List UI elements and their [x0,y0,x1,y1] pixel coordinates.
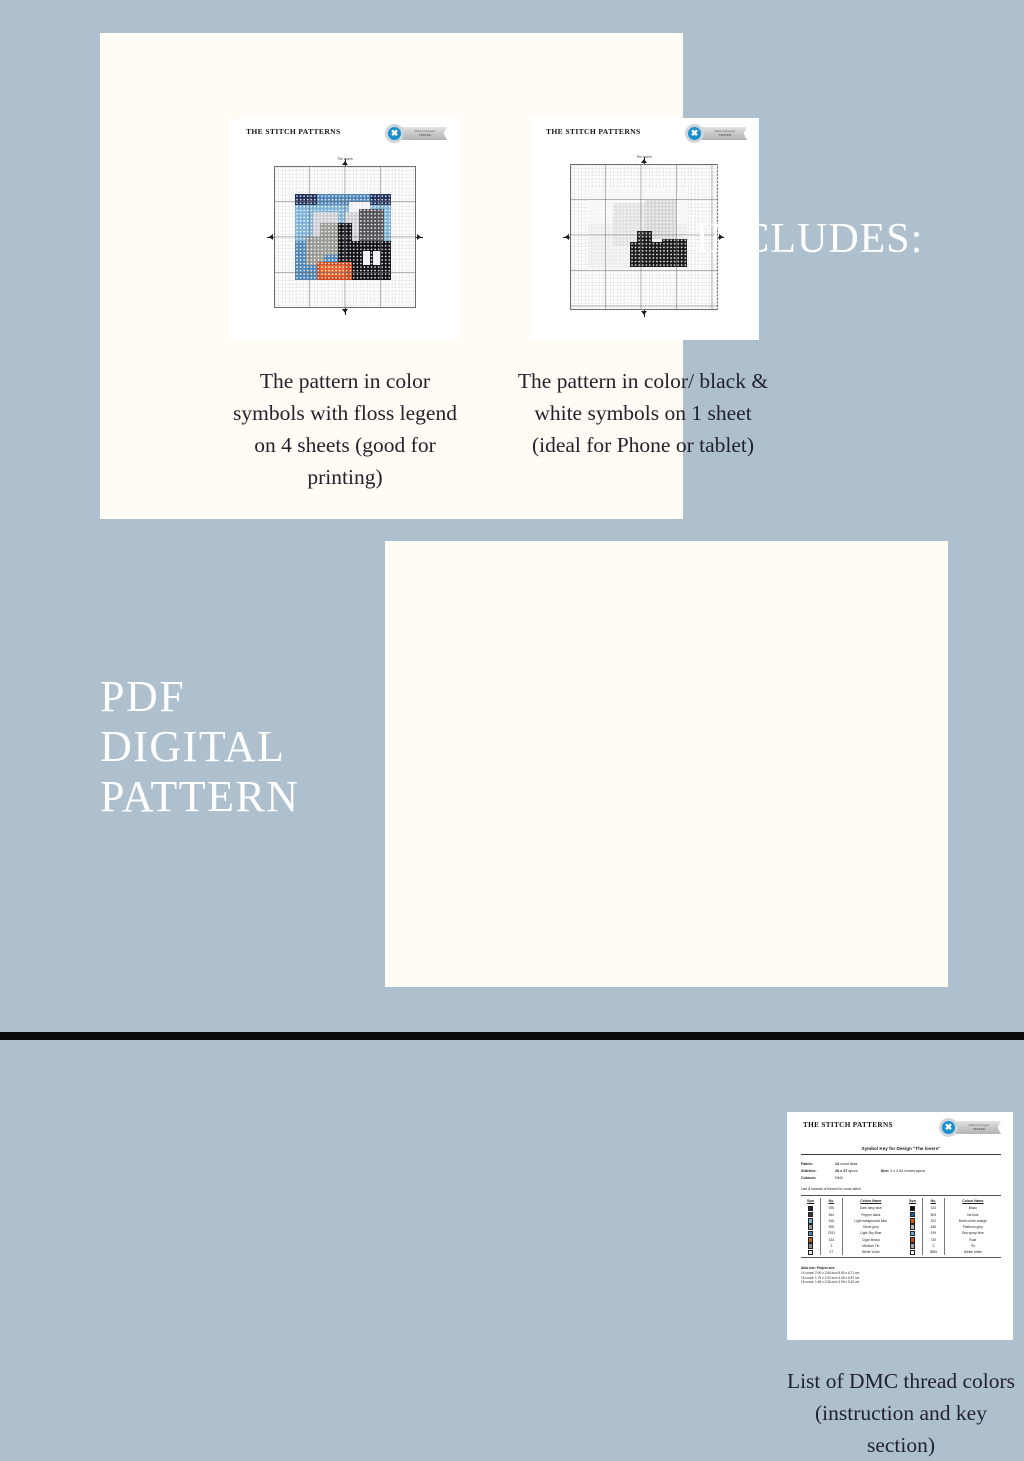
thread-symbol-icon [808,1212,814,1218]
sheet-color-symbols[interactable]: THE STITCH PATTERNS Pattern Keeper TESTE… [230,118,459,340]
bottom-black-strip [0,1032,1024,1040]
symbol-key-meta-row: Colours:DMC [801,1175,1001,1182]
thread-symbol-icon [910,1218,916,1224]
symbol-swatch-cell [903,1249,923,1255]
footer-size-lines: 14 count: 2.00 x 2.64 inch 5.80 x 6.71 c… [801,1271,1001,1285]
sheet-header: THE STITCH PATTERNS Pattern Keeper TESTE… [230,118,459,148]
note-pre: Use [801,1187,808,1191]
aida-size-line: 18 count: 1.56 x 2.06 inch 3.95 x 5.22 c… [801,1280,1001,1285]
symbol-key-body: Symbol Key for Design "The lovers" Fabri… [801,1146,1001,1285]
thread-symbol-icon [808,1237,814,1243]
thread-symbol-icon [910,1224,916,1230]
sheet-brand-title: THE STITCH PATTERNS [546,127,641,136]
pattern-keeper-tested-badge: Pattern Keeper TESTED ✖ [939,1118,1001,1137]
symbol-key-row: 27White Violet [801,1249,899,1255]
chart-center-marker-bottom [641,311,647,315]
badge-ribbon-line1: Pattern Keeper [705,129,745,133]
badge-ribbon-line1: Pattern Keeper [959,1123,999,1127]
bottom-content-panel: THE STITCH PATTERNS Pattern Keeper TESTE… [385,541,948,987]
symbol-key-meta-row: Fabric:14 count Aida [801,1161,1001,1168]
thread-number-cell: 3865 [923,1249,945,1255]
thread-symbol-icon [808,1218,814,1224]
sheet-header: THE STITCH PATTERNS Pattern Keeper TESTE… [787,1112,1013,1142]
symbol-key-meta-row: Stitches:28 x 37 aprox.Size: 2 x 2.64 in… [801,1168,1001,1175]
symbol-key-col-header: Sym [903,1198,923,1205]
chart-center-marker-bottom [342,309,348,313]
chart-center-marker-left [565,234,569,240]
badge-seal-icon: ✖ [385,124,404,143]
symbol-key-col-header: No. [821,1198,843,1205]
includes-heading: INCLUDES: [695,213,923,265]
symbol-key-col-header: Colour Name [842,1198,899,1205]
chart-center-marker-left [269,234,273,240]
symbol-key-footer: Aida size: Project size 14 count: 2.00 x… [801,1266,1001,1284]
thread-symbol-icon [910,1212,916,1218]
thread-symbol-icon [910,1243,916,1249]
thread-symbol-icon [808,1224,814,1230]
thread-name-cell: Winter white [944,1249,1001,1255]
badge-seal-glyph: ✖ [388,127,401,140]
sheet-header: THE STITCH PATTERNS Pattern Keeper TESTE… [530,118,759,148]
thread-symbol-icon [808,1231,814,1237]
sheet-brand-title: THE STITCH PATTERNS [246,127,341,136]
thread-name-cell: White Violet [842,1249,899,1255]
divider [801,1154,1001,1155]
badge-seal-glyph: ✖ [942,1121,955,1134]
caption-bw-symbols: The pattern in color/ black & white symb… [512,365,774,461]
chart-grid-major [274,166,416,308]
badge-ribbon-line2: TESTED [959,1127,999,1131]
sheet-brand-title: THE STITCH PATTERNS [803,1121,893,1129]
badge-seal-icon: ✖ [939,1118,958,1137]
thread-symbol-icon [808,1243,814,1249]
thread-symbol-icon [910,1250,916,1256]
pattern-keeper-tested-badge: Pattern Keeper TESTED ✖ [385,124,447,143]
poster-canvas: THE STITCH PATTERNS Pattern Keeper TESTE… [0,0,1024,1040]
symbol-key-col-header: Sym [801,1198,821,1205]
symbol-key-note: Use 2 strands of thread for cross stitch [801,1187,1001,1191]
chart-center-marker-right [417,234,421,240]
badge-seal-icon: ✖ [685,124,704,143]
thread-symbol-icon [808,1250,814,1256]
cross-stitch-chart-color[interactable]: The lovers [274,166,416,308]
note-post: strands of thread for cross stitch [810,1187,861,1191]
symbol-key-col-header: No. [923,1198,945,1205]
pdf-line-1: PDF [100,672,300,722]
badge-seal-glyph: ✖ [688,127,701,140]
symbol-swatch-cell [801,1249,821,1255]
symbol-key-heading: Symbol Key for Design "The lovers" [801,1146,1001,1151]
pdf-digital-pattern-heading: PDF DIGITAL PATTERN [100,672,300,822]
chart-center-marker-top [641,159,647,163]
symbol-key-table-right: SymNo.Colour Name310Black803Ink blue921B… [903,1198,1001,1255]
symbol-key-table-left: SymNo.Colour Name939Dark navy blue844Pep… [801,1198,899,1255]
symbol-key-row: 3865Winter white [903,1249,1001,1255]
pdf-line-3: PATTERN [100,772,300,822]
caption-color-symbols: The pattern in color symbols with floss … [228,365,462,493]
thread-symbol-icon [910,1206,916,1212]
badge-ribbon-line2: TESTED [705,133,745,137]
top-content-panel: THE STITCH PATTERNS Pattern Keeper TESTE… [100,33,683,519]
pattern-keeper-tested-badge: Pattern Keeper TESTED ✖ [685,124,747,143]
thread-number-cell: 27 [821,1249,843,1255]
pdf-line-2: DIGITAL [100,722,300,772]
thread-symbol-icon [910,1231,916,1237]
thread-symbol-icon [808,1206,814,1212]
chart-center-marker-top [342,161,348,165]
sheet-symbol-key[interactable]: THE STITCH PATTERNS Pattern Keeper TESTE… [787,1112,1013,1340]
caption-dmc-list: List of DMC thread colors (instruction a… [783,1365,1019,1461]
badge-ribbon-line1: Pattern Keeper [405,129,445,133]
badge-ribbon-line2: TESTED [405,133,445,137]
symbol-key-tables: SymNo.Colour Name939Dark navy blue844Pep… [801,1195,1001,1258]
symbol-key-meta: Fabric:14 count AidaStitches:28 x 37 apr… [801,1161,1001,1183]
thread-symbol-icon [910,1237,916,1243]
symbol-key-col-header: Colour Name [944,1198,1001,1205]
